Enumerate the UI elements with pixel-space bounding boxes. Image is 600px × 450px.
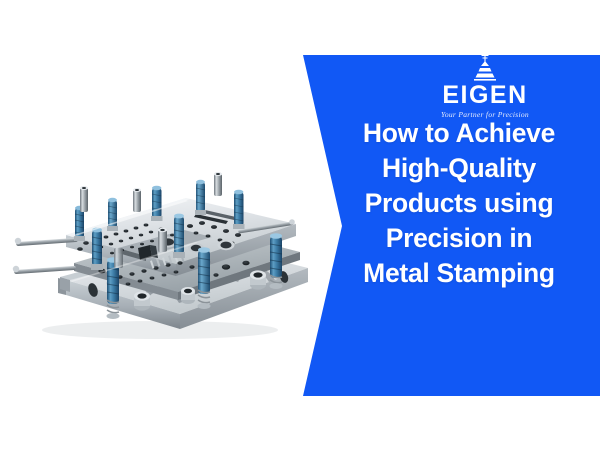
headline-line-1: How to Achieve [330, 116, 588, 151]
banner-canvas: EIGEN Your Partner for Precision How to … [0, 0, 600, 450]
headline-line-2: High-Quality [330, 151, 588, 186]
progressive-stamping-die-photo [0, 130, 320, 345]
eigen-pyramid-antenna-icon [465, 52, 505, 82]
eigen-wordmark: EIGEN [420, 83, 550, 108]
headline-line-3: Products using [330, 186, 588, 221]
eigen-logo: EIGEN Your Partner for Precision [420, 52, 550, 119]
headline-line-4: Precision in [330, 221, 588, 256]
headline-line-5: Metal Stamping [330, 256, 588, 291]
banner-headline: How to Achieve High-Quality Products usi… [330, 116, 588, 291]
